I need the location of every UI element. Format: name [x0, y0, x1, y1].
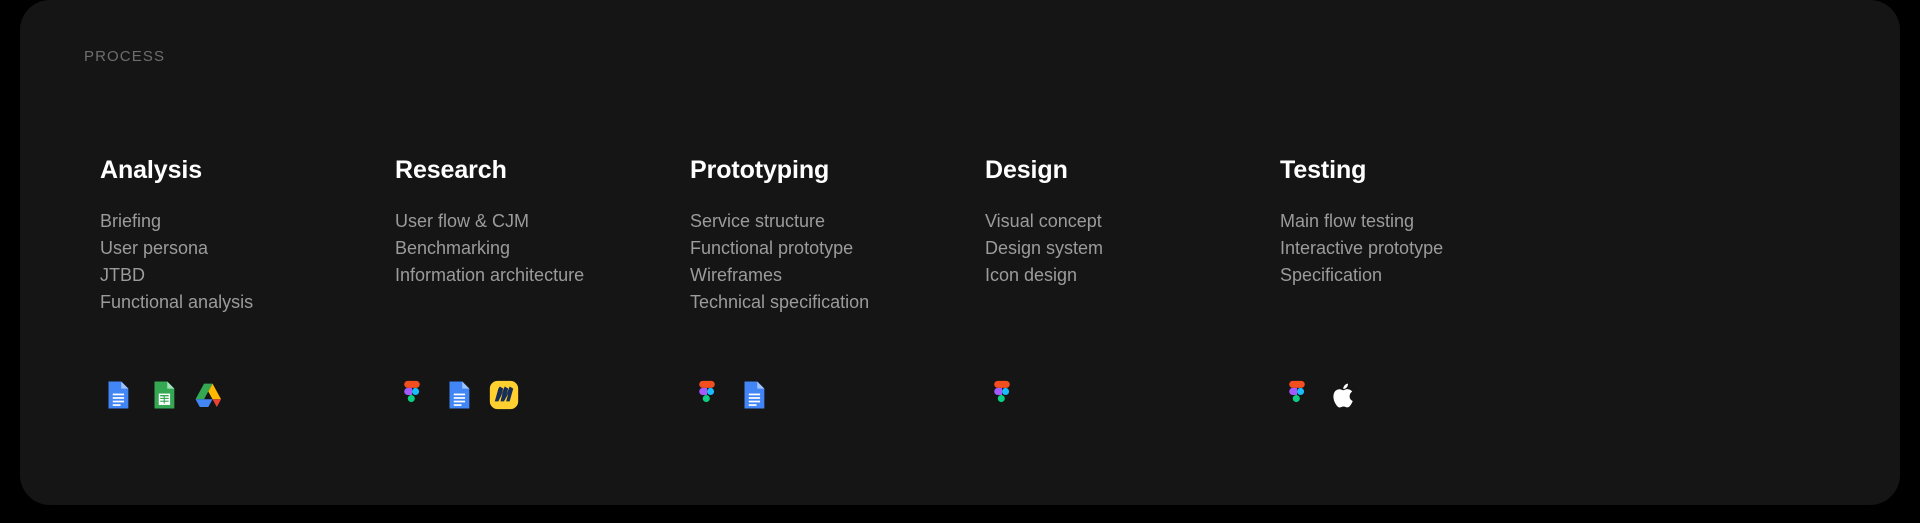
- list-item: User flow & CJM: [395, 208, 690, 235]
- process-column: AnalysisBriefingUser personaJTBDFunction…: [100, 155, 395, 316]
- tool-icon-row: [395, 378, 521, 412]
- list-item: Specification: [1280, 262, 1575, 289]
- miro-icon[interactable]: [487, 378, 521, 412]
- column-title: Research: [395, 155, 690, 185]
- column-title: Design: [985, 155, 1280, 185]
- column-item-list: BriefingUser personaJTBDFunctional analy…: [100, 208, 395, 316]
- list-item: Briefing: [100, 208, 395, 235]
- list-item: Benchmarking: [395, 235, 690, 262]
- process-column: ResearchUser flow & CJMBenchmarkingInfor…: [395, 155, 690, 316]
- google-drive-icon[interactable]: [192, 378, 226, 412]
- process-card: PROCESS AnalysisBriefingUser personaJTBD…: [20, 0, 1900, 505]
- list-item: Interactive prototype: [1280, 235, 1575, 262]
- column-title: Testing: [1280, 155, 1575, 185]
- process-column: TestingMain flow testingInteractive prot…: [1280, 155, 1575, 316]
- figma-icon[interactable]: [1280, 378, 1314, 412]
- list-item: Information architecture: [395, 262, 690, 289]
- google-docs-icon[interactable]: [736, 378, 770, 412]
- column-item-list: Service structureFunctional prototypeWir…: [690, 208, 985, 316]
- process-columns: AnalysisBriefingUser personaJTBDFunction…: [100, 155, 1860, 316]
- list-item: Design system: [985, 235, 1280, 262]
- figma-icon[interactable]: [690, 378, 724, 412]
- column-title: Prototyping: [690, 155, 985, 185]
- process-column: DesignVisual conceptDesign systemIcon de…: [985, 155, 1280, 316]
- google-sheets-icon[interactable]: [146, 378, 180, 412]
- column-title: Analysis: [100, 155, 395, 185]
- tool-icon-row: [100, 378, 226, 412]
- list-item: Technical specification: [690, 289, 985, 316]
- tool-icon-row: [690, 378, 770, 412]
- list-item: User persona: [100, 235, 395, 262]
- list-item: JTBD: [100, 262, 395, 289]
- figma-icon[interactable]: [985, 378, 1019, 412]
- list-item: Wireframes: [690, 262, 985, 289]
- apple-icon[interactable]: [1326, 378, 1360, 412]
- list-item: Main flow testing: [1280, 208, 1575, 235]
- column-item-list: Visual conceptDesign systemIcon design: [985, 208, 1280, 289]
- tool-icon-row: [1280, 378, 1360, 412]
- google-docs-icon[interactable]: [100, 378, 134, 412]
- process-column: PrototypingService structureFunctional p…: [690, 155, 985, 316]
- list-item: Functional prototype: [690, 235, 985, 262]
- list-item: Functional analysis: [100, 289, 395, 316]
- list-item: Service structure: [690, 208, 985, 235]
- list-item: Visual concept: [985, 208, 1280, 235]
- column-item-list: Main flow testingInteractive prototypeSp…: [1280, 208, 1575, 289]
- figma-icon[interactable]: [395, 378, 429, 412]
- list-item: Icon design: [985, 262, 1280, 289]
- column-item-list: User flow & CJMBenchmarkingInformation a…: [395, 208, 690, 289]
- section-label: PROCESS: [84, 48, 165, 65]
- tool-icon-row: [985, 378, 1019, 412]
- google-docs-icon[interactable]: [441, 378, 475, 412]
